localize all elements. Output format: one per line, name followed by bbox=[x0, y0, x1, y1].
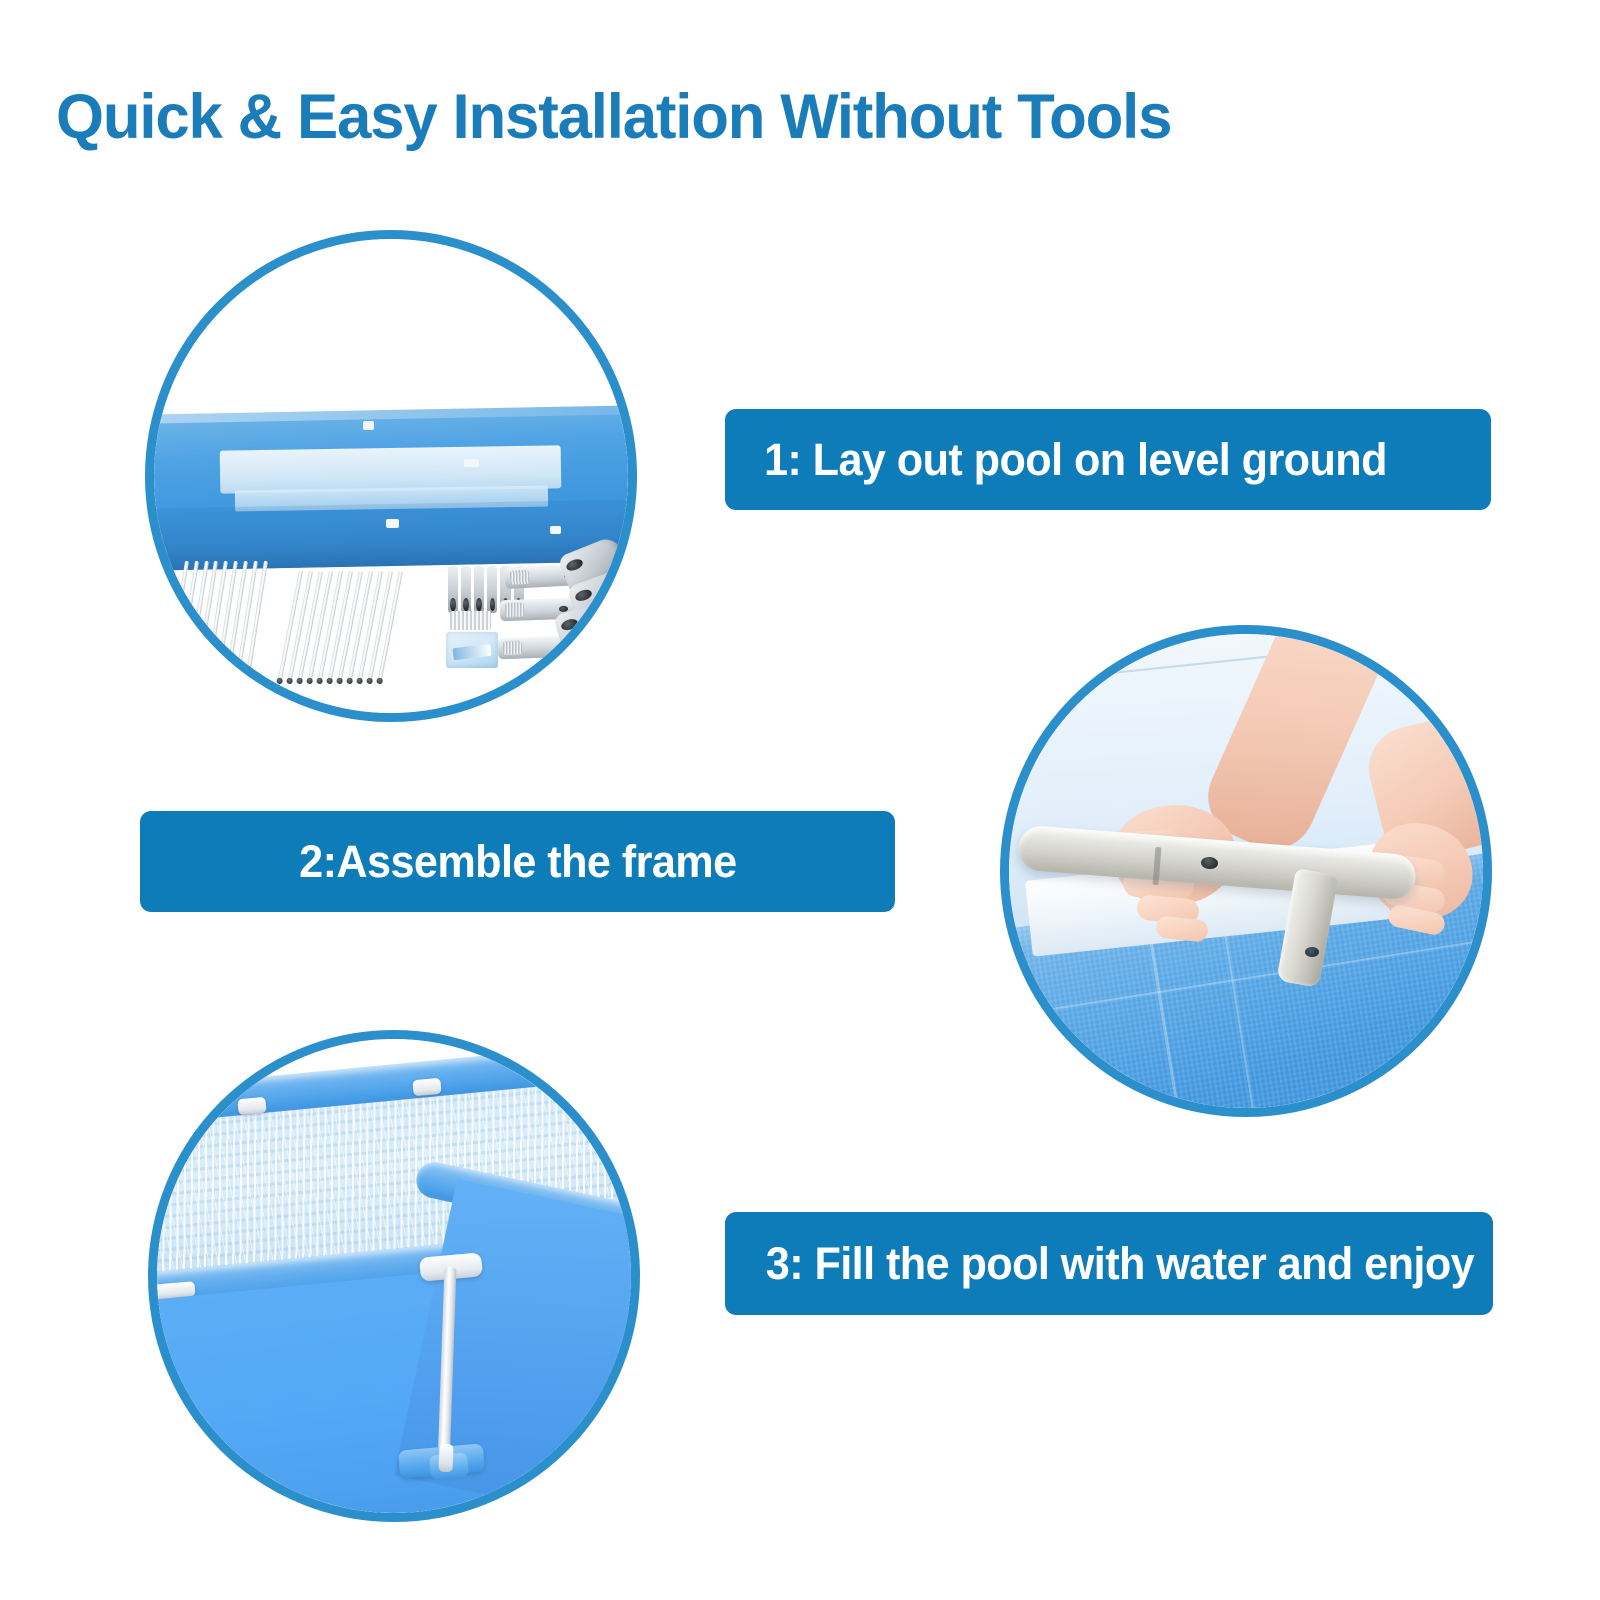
connector-ring bbox=[461, 566, 471, 613]
connector-ring bbox=[474, 566, 484, 613]
pool-liner-and-parts-photo bbox=[154, 239, 628, 713]
step-1-label: 1: Lay out pool on level ground bbox=[764, 434, 1387, 486]
liner-tab bbox=[550, 526, 561, 535]
step-3-banner: 3: Fill the pool with water and enjoy bbox=[725, 1212, 1493, 1315]
screw-set bbox=[450, 611, 490, 630]
frame-foot-cap bbox=[439, 1444, 454, 1473]
page-title: Quick & Easy Installation Without Tools bbox=[56, 84, 1526, 150]
step-3-label: 3: Fill the pool with water and enjoy bbox=[766, 1238, 1474, 1290]
hardware-bag bbox=[446, 632, 498, 668]
hands-assembling-frame-photo bbox=[1009, 634, 1483, 1108]
step-3-photo-circle bbox=[148, 1030, 640, 1522]
liner-tab bbox=[386, 519, 398, 528]
liner-tab bbox=[363, 421, 374, 430]
step-2-banner: 2:Assemble the frame bbox=[140, 811, 895, 912]
liner-tab bbox=[464, 459, 478, 467]
connector-ring bbox=[448, 566, 458, 613]
frame-pole-bundle-right bbox=[296, 571, 438, 685]
infographic-canvas: Quick & Easy Installation Without Tools bbox=[0, 0, 1600, 1600]
filled-pool-photo bbox=[157, 1039, 631, 1513]
step-1-photo-circle bbox=[145, 230, 637, 722]
step-1-banner: 1: Lay out pool on level ground bbox=[725, 409, 1491, 510]
step-2-photo-circle bbox=[1000, 625, 1492, 1117]
rail-clip bbox=[412, 1078, 442, 1097]
connector-ring bbox=[487, 566, 497, 613]
frame-pole-bundle-left bbox=[182, 561, 305, 684]
rail-clip bbox=[237, 1097, 267, 1116]
step-2-label: 2:Assemble the frame bbox=[299, 836, 736, 888]
